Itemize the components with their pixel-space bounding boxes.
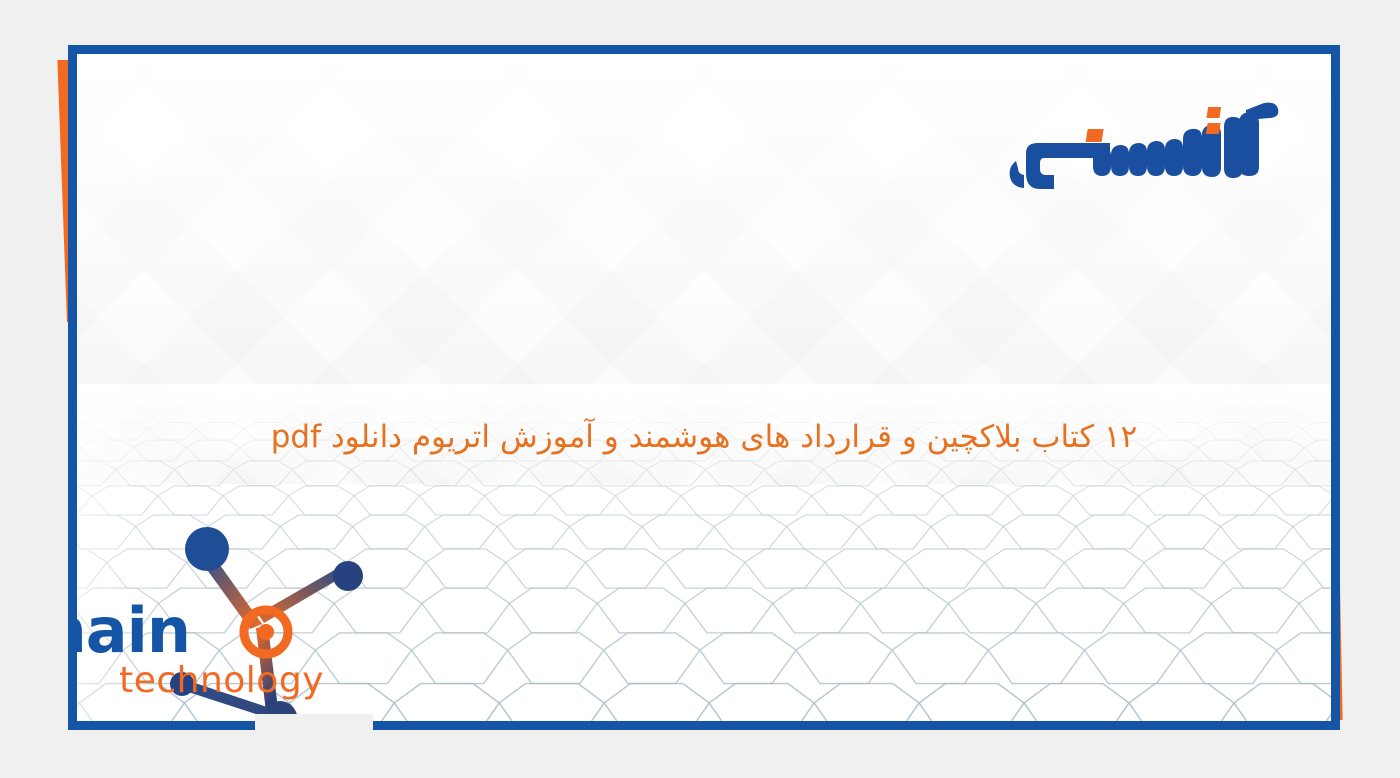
border-notch [255, 714, 373, 734]
center-node-dot [258, 624, 274, 640]
framed-content-card: ۱۲ کتاب بلاکچین و قرارداد های هوشمند و آ… [68, 45, 1340, 730]
blockchain-wordmark: blockchain [77, 594, 190, 667]
page-title: ۱۲ کتاب بلاکچین و قرارداد های هوشمند و آ… [77, 415, 1331, 460]
card-inner-canvas: ۱۲ کتاب بلاکچین و قرارداد های هوشمند و آ… [77, 54, 1331, 721]
blockchain-technology-logo: blockchain technology [172, 524, 602, 721]
brand-logo[interactable] [996, 89, 1286, 194]
technology-wordmark: technology [119, 660, 324, 701]
banner-canvas: ۱۲ کتاب بلاکچین و قرارداد های هوشمند و آ… [0, 0, 1400, 778]
